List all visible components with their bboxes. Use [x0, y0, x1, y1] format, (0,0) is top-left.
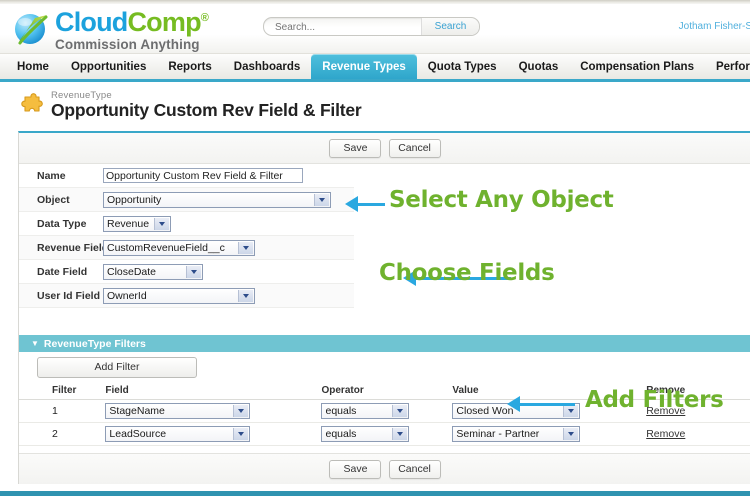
- nav-tab-opportunities[interactable]: Opportunities: [60, 54, 157, 79]
- filter-index: 2: [19, 423, 105, 446]
- field-control: Revenue: [103, 216, 354, 232]
- field-label: Object: [19, 194, 103, 206]
- chevron-down-icon[interactable]: [392, 428, 407, 440]
- filter-field-value: StageName: [106, 404, 249, 418]
- field-control: Opportunity: [103, 192, 354, 208]
- filter-field-select[interactable]: StageName: [105, 403, 250, 419]
- filter-field-select[interactable]: LeadSource: [105, 426, 250, 442]
- puzzle-piece-icon: [19, 92, 45, 116]
- filters-section-title: RevenueType Filters: [44, 338, 146, 350]
- brand-wordmark: CloudComp® Commission Anything: [55, 9, 208, 52]
- page-title: Opportunity Custom Rev Field & Filter: [51, 100, 362, 121]
- form-row: ObjectOpportunity: [19, 188, 354, 212]
- field-control: OwnerId: [103, 288, 354, 304]
- annotation-arrow-add-filters: [507, 396, 575, 412]
- filter-value-cell: Seminar - Partner: [452, 423, 646, 446]
- column-header-operator: Operator: [321, 383, 452, 400]
- column-header-field: Field: [105, 383, 321, 400]
- filter-operator-cell: equals: [321, 400, 452, 423]
- form-row: Data TypeRevenue: [19, 212, 354, 236]
- chevron-down-icon[interactable]: [563, 428, 578, 440]
- field-label: Name: [19, 170, 103, 182]
- record-edit-panel: Save Cancel NameObjectOpportunityData Ty…: [18, 131, 750, 484]
- search-button[interactable]: Search: [421, 18, 479, 35]
- chevron-down-icon[interactable]: [186, 266, 201, 278]
- brand-tagline: Commission Anything: [55, 38, 208, 52]
- object-select-value: Opportunity: [104, 193, 330, 207]
- user-id-field-select[interactable]: OwnerId: [103, 288, 255, 304]
- field-label: User Id Field: [19, 290, 103, 302]
- field-label: Revenue Field: [19, 242, 103, 254]
- record-form: NameObjectOpportunityData TypeRevenueRev…: [19, 164, 354, 308]
- nav-tab-home[interactable]: Home: [6, 54, 60, 79]
- user-menu-link[interactable]: Jotham Fisher-S: [679, 21, 750, 32]
- form-row: Date FieldCloseDate: [19, 260, 354, 284]
- form-row: User Id FieldOwnerId: [19, 284, 354, 308]
- search-input[interactable]: [273, 18, 427, 36]
- filter-row: 2LeadSourceequalsSeminar - PartnerRemove: [19, 423, 750, 446]
- annotation-select-any-object: Select Any Object: [389, 187, 614, 213]
- form-row: Revenue FieldCustomRevenueField__c: [19, 236, 354, 260]
- annotation-choose-fields: Choose Fields: [379, 260, 555, 286]
- field-label: Data Type: [19, 218, 103, 230]
- global-search: Search: [263, 17, 480, 36]
- chevron-down-icon[interactable]: [233, 428, 248, 440]
- save-button-top[interactable]: Save: [329, 139, 381, 158]
- nav-tab-dashboards[interactable]: Dashboards: [223, 54, 311, 79]
- filters-section-header[interactable]: ▼RevenueType Filters: [19, 335, 750, 352]
- cancel-button-bottom[interactable]: Cancel: [389, 460, 441, 479]
- nav-tab-list: HomeOpportunitiesReportsDashboardsRevenu…: [6, 54, 750, 79]
- filter-operator-select[interactable]: equals: [321, 403, 409, 419]
- annotation-add-filters: Add Filters: [585, 387, 724, 413]
- nav-tab-performance-awards[interactable]: Performance Awards: [705, 54, 750, 79]
- add-filter-button[interactable]: Add Filter: [37, 357, 197, 378]
- filter-index: 1: [19, 400, 105, 423]
- page-title-block: RevenueType Opportunity Custom Rev Field…: [18, 84, 750, 128]
- remove-filter-link[interactable]: Remove: [646, 428, 685, 440]
- save-button-bottom[interactable]: Save: [329, 460, 381, 479]
- cloud-arrow-logo-icon: [9, 7, 55, 51]
- chevron-down-icon[interactable]: [154, 218, 169, 230]
- data-type-select[interactable]: Revenue: [103, 216, 171, 232]
- field-control: [103, 168, 354, 183]
- user-id-field-select-value: OwnerId: [104, 289, 254, 303]
- filter-value-value: Seminar - Partner: [453, 427, 579, 441]
- brand-name-part2: Comp: [127, 7, 200, 37]
- filter-operator-cell: equals: [321, 423, 452, 446]
- caret-down-icon[interactable]: ▼: [31, 335, 39, 352]
- annotation-arrow-select-object: [345, 196, 385, 212]
- cancel-button-top[interactable]: Cancel: [389, 139, 441, 158]
- filter-operator-select[interactable]: equals: [321, 426, 409, 442]
- column-header-filter: Filter: [19, 383, 105, 400]
- toolbar-top: Save Cancel: [19, 133, 750, 164]
- filter-field-value: LeadSource: [106, 427, 249, 441]
- chevron-down-icon[interactable]: [233, 405, 248, 417]
- nav-tab-revenue-types[interactable]: Revenue Types: [311, 54, 417, 79]
- app-header: CloudComp® Commission Anything Search Jo…: [0, 4, 750, 54]
- chevron-down-icon[interactable]: [238, 242, 253, 254]
- primary-nav: HomeOpportunitiesReportsDashboardsRevenu…: [0, 54, 750, 82]
- field-control: CloseDate: [103, 264, 354, 280]
- field-control: CustomRevenueField__c: [103, 240, 354, 256]
- filter-remove-cell: Remove: [646, 423, 750, 446]
- nav-tab-quotas[interactable]: Quotas: [508, 54, 570, 79]
- nav-tab-quota-types[interactable]: Quota Types: [417, 54, 508, 79]
- field-label: Date Field: [19, 266, 103, 278]
- form-row: Name: [19, 164, 354, 188]
- footer-strip: [0, 487, 750, 500]
- filter-field-cell: LeadSource: [105, 423, 321, 446]
- brand-name-part1: Cloud: [55, 7, 127, 37]
- chevron-down-icon[interactable]: [392, 405, 407, 417]
- name-input[interactable]: [103, 168, 303, 183]
- filter-field-cell: StageName: [105, 400, 321, 423]
- nav-tab-compensation-plans[interactable]: Compensation Plans: [569, 54, 705, 79]
- chevron-down-icon[interactable]: [314, 194, 329, 206]
- registered-mark-icon: ®: [201, 12, 208, 24]
- app-window: CloudComp® Commission Anything Search Jo…: [0, 0, 750, 500]
- toolbar-bottom: Save Cancel: [19, 453, 750, 484]
- revenue-field-select-value: CustomRevenueField__c: [104, 241, 254, 255]
- revenue-field-select[interactable]: CustomRevenueField__c: [103, 240, 255, 256]
- date-field-select[interactable]: CloseDate: [103, 264, 203, 280]
- filter-value-select[interactable]: Seminar - Partner: [452, 426, 580, 442]
- chevron-down-icon[interactable]: [238, 290, 253, 302]
- nav-tab-reports[interactable]: Reports: [157, 54, 222, 79]
- object-select[interactable]: Opportunity: [103, 192, 331, 208]
